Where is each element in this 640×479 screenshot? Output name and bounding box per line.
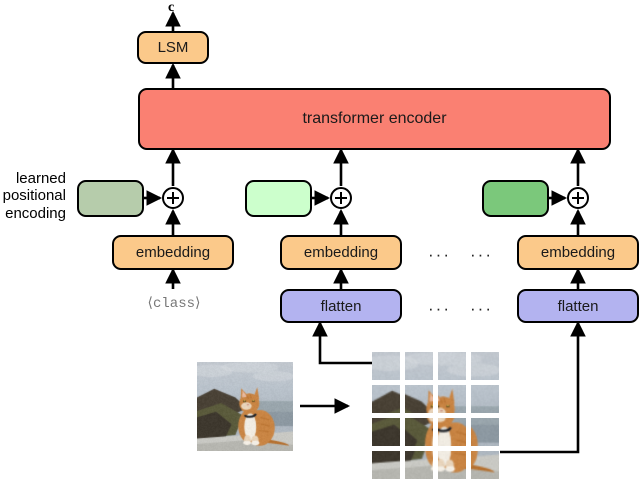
ellipsis-embedding-right: ··· xyxy=(470,246,493,263)
image-patch xyxy=(372,418,400,446)
image-patch xyxy=(471,385,499,413)
transformer-encoder-block[interactable]: transformer encoder xyxy=(138,88,611,150)
embedding-block-class[interactable]: embedding xyxy=(112,235,234,270)
embedding-block-patch-last[interactable]: embedding xyxy=(517,235,639,270)
positional-encoding-box-patch-first[interactable] xyxy=(245,180,312,217)
image-patch xyxy=(372,352,400,380)
patch-grid xyxy=(372,352,500,464)
sum-operator-patch-last[interactable] xyxy=(567,187,589,209)
learned-positional-encoding-label: learned positional encoding xyxy=(0,170,66,222)
connector-layer xyxy=(0,0,640,464)
arrow-firstpatch-to-flatten2 xyxy=(320,323,372,363)
diagram-canvas: c LSM transformer encoder learned positi… xyxy=(0,0,640,464)
image-patch xyxy=(405,451,433,479)
class-token-label: ⟨class⟩ xyxy=(128,295,220,312)
image-patch xyxy=(471,418,499,446)
pe-label-line-3: encoding xyxy=(0,205,66,222)
image-patch xyxy=(438,385,466,413)
sum-operator-class[interactable] xyxy=(162,187,184,209)
positional-encoding-box-class[interactable] xyxy=(77,180,144,217)
ellipsis-flatten-right: ··· xyxy=(470,300,493,317)
ellipsis-flatten-left: ··· xyxy=(428,300,451,317)
arrow-lastpatch-to-flatten3 xyxy=(500,323,578,452)
flatten-block-patch-first[interactable]: flatten xyxy=(280,289,402,323)
sum-operator-patch-first[interactable] xyxy=(330,187,352,209)
image-patch xyxy=(372,385,400,413)
image-patch xyxy=(372,451,400,479)
image-patch xyxy=(438,418,466,446)
image-patch xyxy=(405,418,433,446)
image-patch xyxy=(438,451,466,479)
image-patch xyxy=(405,352,433,380)
image-patch xyxy=(471,352,499,380)
pe-label-line-2: positional xyxy=(0,187,66,204)
positional-encoding-box-patch-last[interactable] xyxy=(482,180,549,217)
output-class-symbol: c xyxy=(168,0,174,16)
embedding-block-patch-first[interactable]: embedding xyxy=(280,235,402,270)
source-image-cat xyxy=(197,362,293,451)
image-patch xyxy=(405,385,433,413)
image-patch xyxy=(438,352,466,380)
lsm-block[interactable]: LSM xyxy=(137,31,209,64)
pe-label-line-1: learned xyxy=(0,170,66,187)
ellipsis-embedding-left: ··· xyxy=(428,246,451,263)
image-patch xyxy=(471,451,499,479)
flatten-block-patch-last[interactable]: flatten xyxy=(517,289,639,323)
